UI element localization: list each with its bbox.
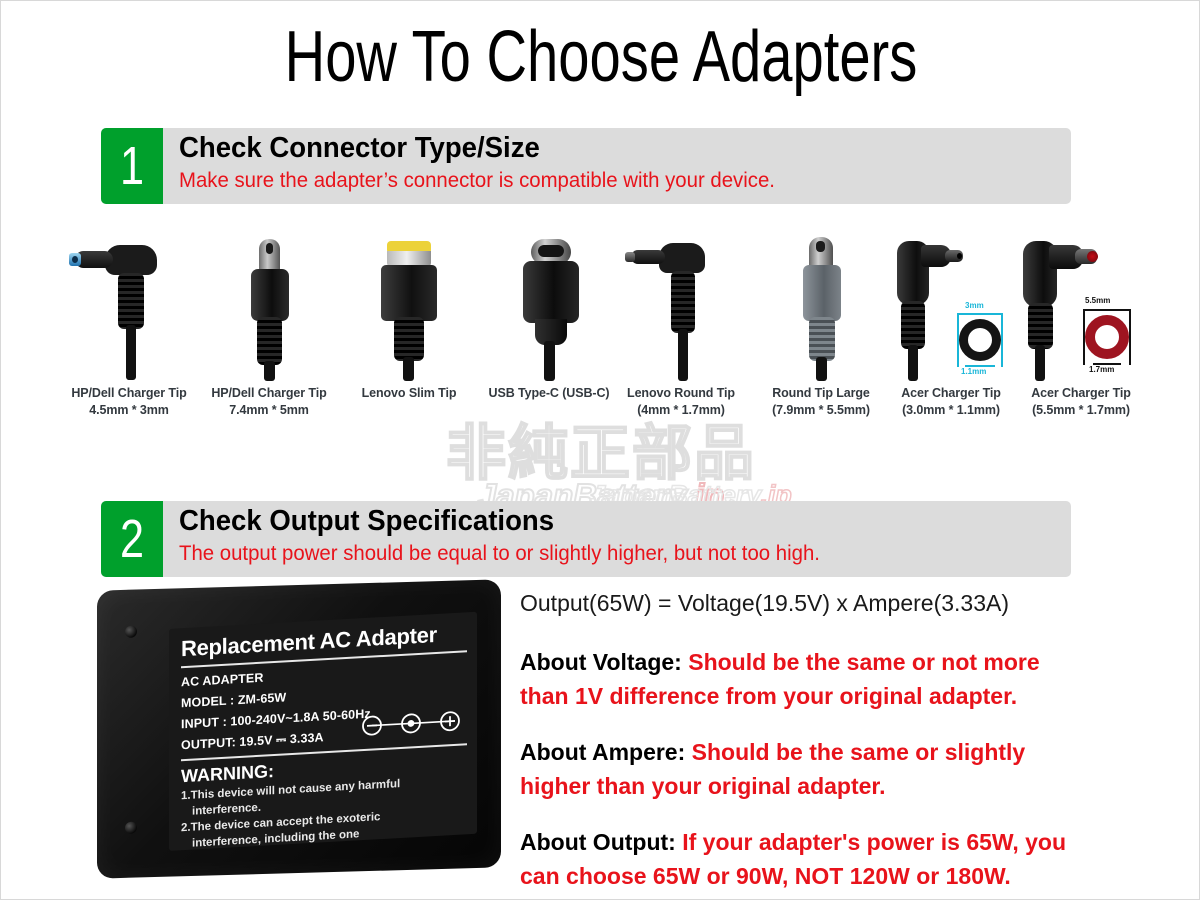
- connector-item-round-large[interactable]: Round Tip Large (7.9mm * 5.5mm): [753, 233, 889, 443]
- connector-item-lenovo-round[interactable]: Lenovo Round Tip (4mm * 1.7mm): [613, 233, 749, 443]
- connector-caption: Acer Charger Tip (5.5mm * 1.7mm): [1003, 385, 1159, 419]
- connector-name: HP/Dell Charger Tip: [71, 386, 186, 400]
- connector-size: 7.4mm * 5mm: [191, 402, 347, 419]
- adapter-body: Replacement AC Adapter AC ADAPTER MODEL …: [97, 579, 501, 878]
- step-1-text: Check Connector Type/Size Make sure the …: [179, 130, 1063, 196]
- screw-hole: [125, 626, 137, 638]
- dimension-diagram: 5.5mm 1.7mm: [1071, 295, 1149, 379]
- step-1-subheading: Make sure the adapter’s connector is com…: [179, 166, 1036, 196]
- acer-tip-right-angle-icon: 3mm 1.1mm: [883, 233, 1019, 383]
- adapter-label: Replacement AC Adapter AC ADAPTER MODEL …: [169, 612, 477, 851]
- about-ampere-paragraph: About Ampere: Should be the same or slig…: [520, 735, 1080, 803]
- barrel-tip-straight-icon: [201, 233, 337, 383]
- adapter-spec-lines: AC ADAPTER MODEL : ZM-65W INPUT : 100-24…: [181, 662, 371, 757]
- step-1-number-badge: 1: [101, 128, 163, 204]
- connector-item-acer-5.5mm[interactable]: 5.5mm 1.7mm Acer Charger Tip (5.5mm * 1.…: [1013, 233, 1149, 443]
- about-output-paragraph: About Output: If your adapter's power is…: [520, 825, 1080, 893]
- usb-type-c-tip-icon: [481, 233, 617, 383]
- step-2-number-badge: 2: [101, 501, 163, 577]
- connector-name: HP/Dell Charger Tip: [211, 386, 326, 400]
- connector-name: Lenovo Round Tip: [627, 386, 735, 400]
- connector-item-hp-dell-4.5mm[interactable]: HP/Dell Charger Tip 4.5mm * 3mm: [61, 233, 197, 443]
- dimension-diagram: 3mm 1.1mm: [945, 301, 1017, 379]
- step-1-banner: 1 Check Connector Type/Size Make sure th…: [101, 128, 1071, 204]
- connector-caption: Lenovo Round Tip (4mm * 1.7mm): [603, 385, 759, 419]
- connector-name: Lenovo Slim Tip: [362, 386, 457, 400]
- barrel-tip-right-angle-icon: [613, 233, 749, 383]
- barrel-tip-gray-large-icon: [753, 233, 889, 383]
- step-1-heading: Check Connector Type/Size: [179, 130, 1019, 166]
- connector-item-usb-c[interactable]: USB Type-C (USB-C): [481, 233, 617, 443]
- about-voltage-paragraph: About Voltage: Should be the same or not…: [520, 645, 1080, 713]
- step-2-text: Check Output Specifications The output p…: [179, 503, 1063, 569]
- about-output-label: About Output:: [520, 829, 676, 855]
- step-1-number: 1: [120, 128, 144, 204]
- dimension-outer: 3mm: [965, 301, 984, 310]
- lenovo-slim-rectangular-tip-icon: [341, 233, 477, 383]
- page-title: How To Choose Adapters: [133, 15, 1069, 99]
- barrel-tip-right-angle-blue-icon: [61, 233, 197, 383]
- connector-size: (4mm * 1.7mm): [603, 402, 759, 419]
- connector-gallery: HP/Dell Charger Tip 4.5mm * 3mm HP/Dell …: [61, 233, 1151, 443]
- connector-caption: HP/Dell Charger Tip 7.4mm * 5mm: [191, 385, 347, 419]
- connector-name: Acer Charger Tip: [901, 386, 1001, 400]
- connector-item-acer-3.0mm[interactable]: 3mm 1.1mm Acer Charger Tip (3.0mm * 1.1m…: [883, 233, 1019, 443]
- connector-name: USB Type-C (USB-C): [489, 386, 610, 400]
- connector-size: 4.5mm * 3mm: [51, 402, 207, 419]
- acer-tip-right-angle-red-icon: 5.5mm 1.7mm: [1013, 233, 1149, 383]
- connector-name: Round Tip Large: [772, 386, 870, 400]
- dimension-inner: 1.7mm: [1089, 365, 1114, 374]
- step-2-number: 2: [120, 501, 144, 577]
- ac-adapter-photo: Replacement AC Adapter AC ADAPTER MODEL …: [83, 579, 501, 879]
- connector-size: (5.5mm * 1.7mm): [1003, 402, 1159, 419]
- connector-name: Acer Charger Tip: [1031, 386, 1131, 400]
- connector-caption: Lenovo Slim Tip: [331, 385, 487, 402]
- step-2-heading: Check Output Specifications: [179, 503, 1019, 539]
- infographic-page: How To Choose Adapters 1 Check Connector…: [0, 0, 1200, 900]
- connector-item-lenovo-slim[interactable]: Lenovo Slim Tip: [341, 233, 477, 443]
- about-voltage-label: About Voltage:: [520, 649, 682, 675]
- connector-caption: HP/Dell Charger Tip 4.5mm * 3mm: [51, 385, 207, 419]
- dimension-inner: 1.1mm: [961, 367, 986, 376]
- output-equation: Output(65W) = Voltage(19.5V) x Ampere(3.…: [520, 587, 1080, 619]
- step-2-subheading: The output power should be equal to or s…: [179, 539, 1036, 569]
- screw-hole: [125, 822, 137, 834]
- output-spec-text: Output(65W) = Voltage(19.5V) x Ampere(3.…: [520, 587, 1080, 900]
- step-2-banner: 2 Check Output Specifications The output…: [101, 501, 1071, 577]
- connector-item-hp-dell-7.4mm[interactable]: HP/Dell Charger Tip 7.4mm * 5mm: [201, 233, 337, 443]
- dimension-outer: 5.5mm: [1085, 296, 1110, 305]
- about-ampere-label: About Ampere:: [520, 739, 685, 765]
- center-positive-polarity-icon: [359, 709, 463, 739]
